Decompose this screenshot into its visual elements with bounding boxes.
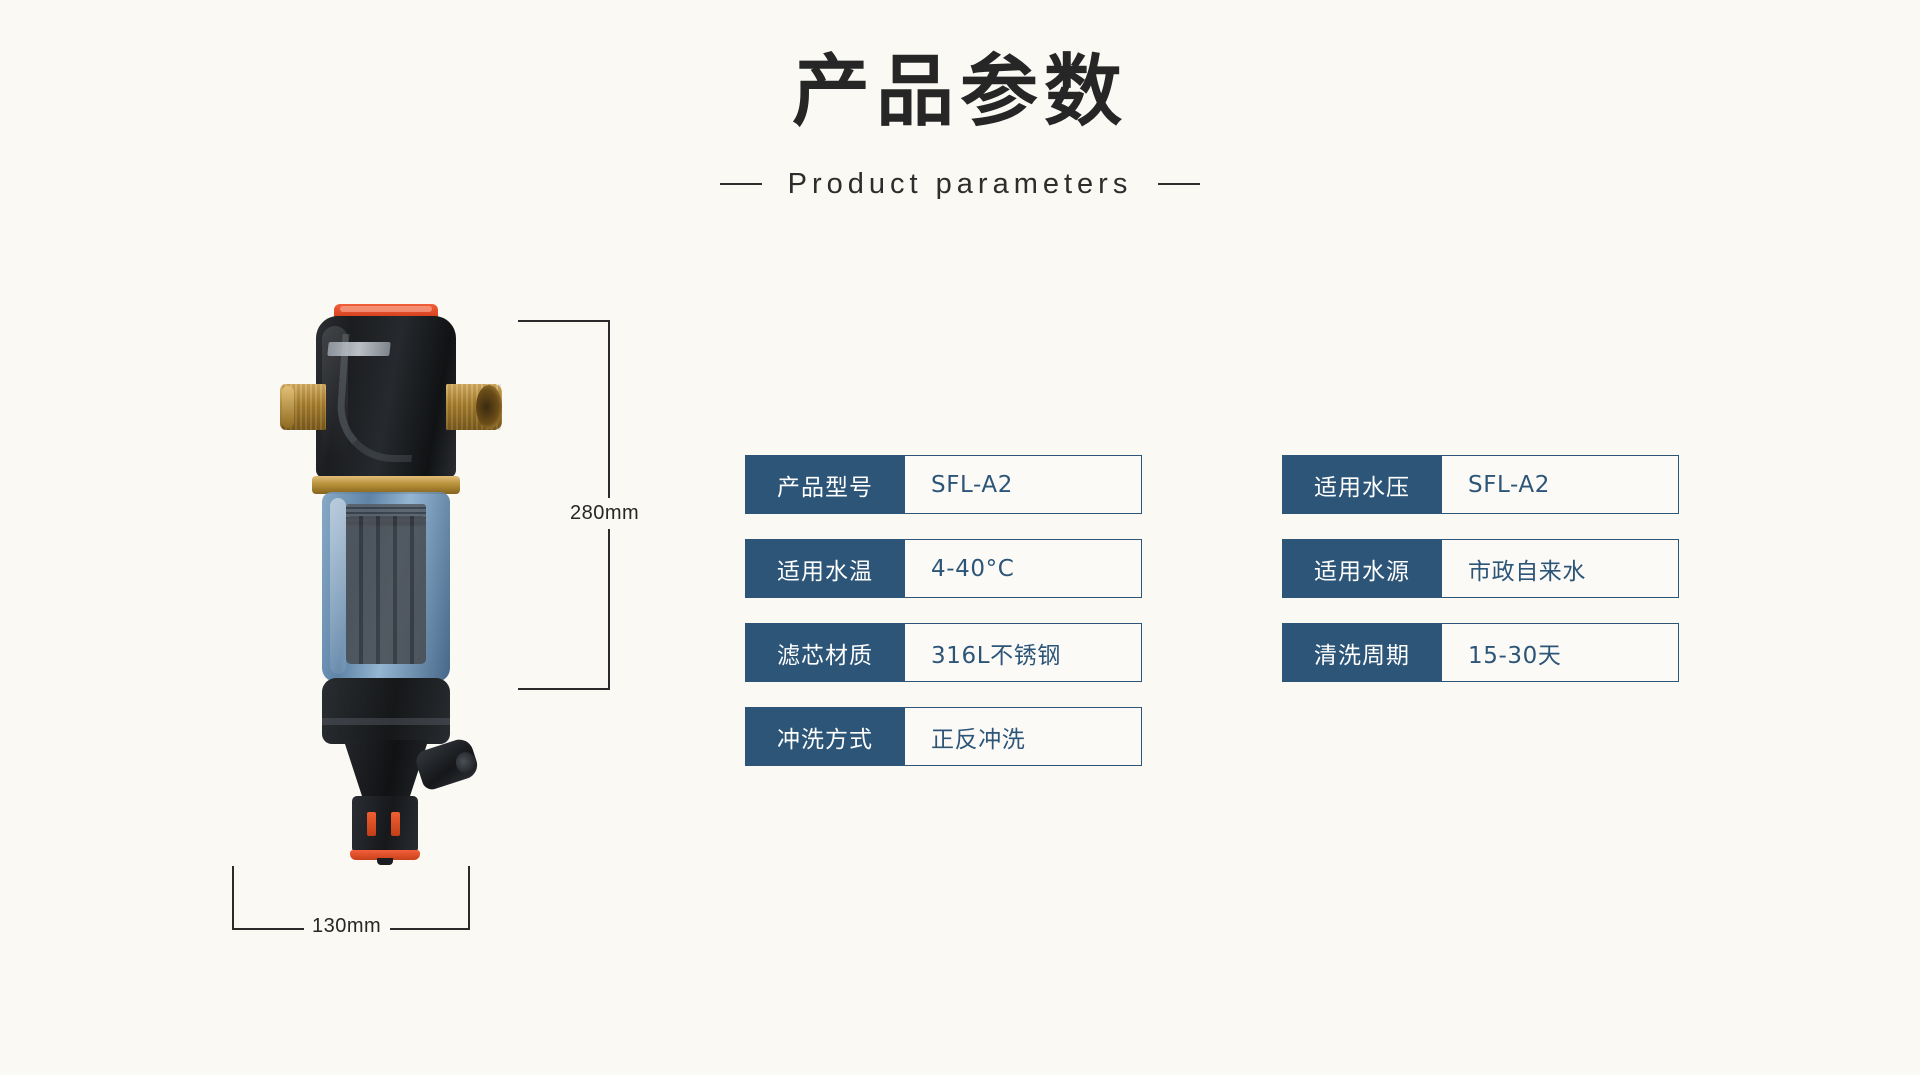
product-image [260, 300, 500, 940]
subtitle-row: Product parameters [0, 168, 1920, 201]
spec-key: 冲洗方式 [745, 707, 905, 766]
stainless-filter-mesh [346, 516, 426, 664]
bowl-highlight [330, 498, 346, 674]
spec-value: 15-30天 [1442, 623, 1679, 682]
spec-column-left: 产品型号 SFL-A2 适用水温 4-40°C 滤芯材质 316L不锈钢 冲洗方… [745, 455, 1142, 766]
table-row: 滤芯材质 316L不锈钢 [745, 623, 1142, 682]
width-dimension-right-stem [468, 866, 470, 930]
spec-key: 产品型号 [745, 455, 905, 514]
height-dimension-top-lead [518, 320, 610, 322]
spec-value: 4-40°C [905, 539, 1142, 598]
page-title: 产品参数 [0, 48, 1920, 138]
width-dimension-left-lead [232, 928, 310, 930]
spec-value: 316L不锈钢 [905, 623, 1142, 682]
table-row: 清洗周期 15-30天 [1282, 623, 1679, 682]
drain-outlet [352, 796, 418, 852]
lower-body-ring [322, 718, 450, 725]
spec-key: 适用水压 [1282, 455, 1442, 514]
port-mouth-right [476, 385, 502, 429]
spec-value: SFL-A2 [1442, 455, 1679, 514]
product-parameters-page: 产品参数 Product parameters [0, 0, 1920, 1075]
width-dimension-right-lead [390, 928, 469, 930]
spec-key: 适用水源 [1282, 539, 1442, 598]
spec-key: 滤芯材质 [745, 623, 905, 682]
page-subtitle: Product parameters [788, 168, 1133, 201]
brand-logo-plate [327, 342, 390, 356]
table-row: 冲洗方式 正反冲洗 [745, 707, 1142, 766]
spec-tables: 产品型号 SFL-A2 适用水温 4-40°C 滤芯材质 316L不锈钢 冲洗方… [745, 455, 1679, 766]
port-ring-left [282, 386, 294, 428]
table-row: 适用水源 市政自来水 [1282, 539, 1679, 598]
drain-slot-right [391, 812, 400, 836]
height-dimension-bottom-lead [518, 688, 610, 690]
dash-right-icon [1158, 183, 1200, 185]
top-cap-highlight [340, 306, 432, 312]
lower-body [322, 678, 450, 744]
product-figure: 280mm 130mm [200, 300, 660, 1000]
drain-slot-left [367, 812, 376, 836]
dash-left-icon [720, 183, 762, 185]
width-dimension-label: 130mm [304, 912, 389, 941]
spec-value: 正反冲洗 [905, 707, 1142, 766]
page-header: 产品参数 Product parameters [0, 48, 1920, 201]
width-dimension-left-stem [232, 866, 234, 930]
spec-key: 适用水温 [745, 539, 905, 598]
table-row: 产品型号 SFL-A2 [745, 455, 1142, 514]
spec-key: 清洗周期 [1282, 623, 1442, 682]
height-dimension-label: 280mm [562, 498, 647, 529]
drain-nub [377, 858, 393, 865]
table-row: 适用水压 SFL-A2 [1282, 455, 1679, 514]
spec-value: 市政自来水 [1442, 539, 1679, 598]
inlet-port-left [280, 384, 326, 430]
outlet-port-right [446, 384, 502, 430]
spec-value: SFL-A2 [905, 455, 1142, 514]
table-row: 适用水温 4-40°C [745, 539, 1142, 598]
spec-column-right: 适用水压 SFL-A2 适用水源 市政自来水 清洗周期 15-30天 [1282, 455, 1679, 766]
